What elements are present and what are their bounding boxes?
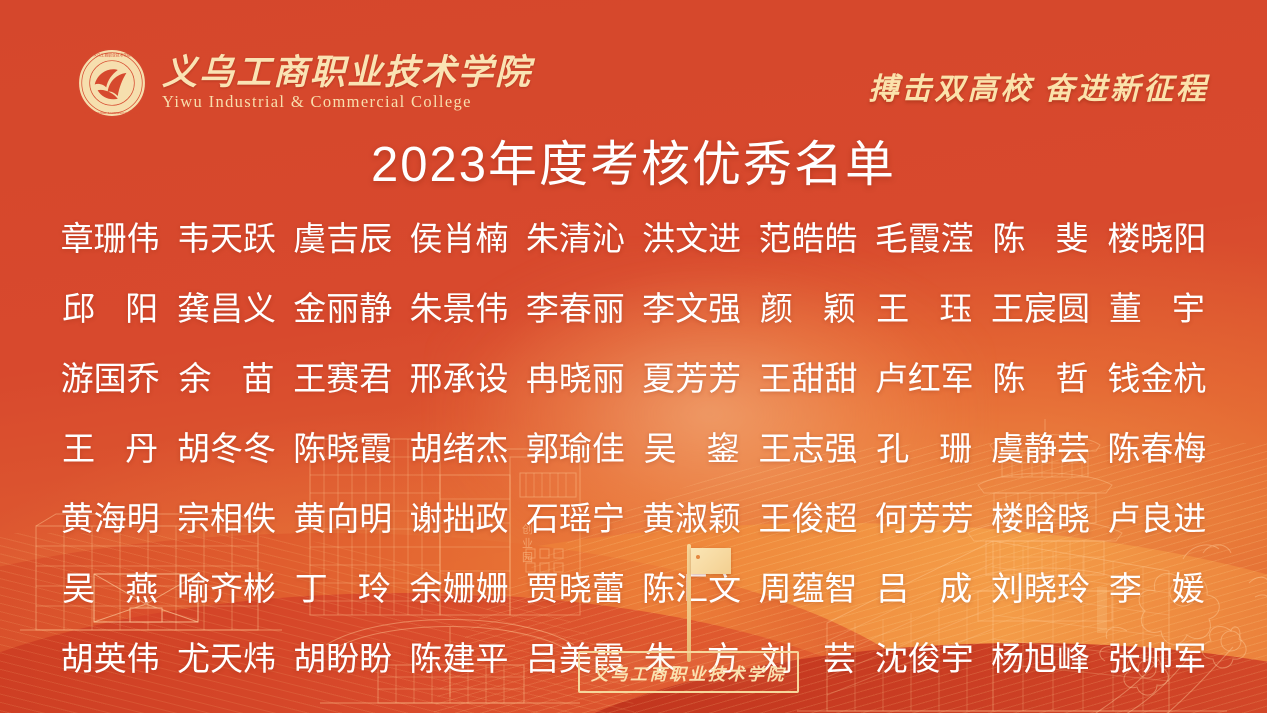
page-title: 2023年度考核优秀名单 <box>0 137 1267 193</box>
honoree-name: 毛霞滢 <box>866 213 982 265</box>
poster-slogan: 搏击双高校 奋进新征程 <box>869 64 1210 108</box>
honoree-name: 章珊伟 <box>52 213 168 265</box>
honoree-name: 杨旭峰 <box>982 633 1098 685</box>
honoree-name: 陈春梅 <box>1099 423 1215 475</box>
honoree-name: 余苗 <box>168 353 284 405</box>
honoree-name: 王甜甜 <box>750 353 866 405</box>
honoree-name: 胡盼盼 <box>285 633 401 685</box>
honoree-name: 吴燕 <box>52 563 168 615</box>
honoree-name: 洪文进 <box>634 213 750 265</box>
honoree-name: 丁玲 <box>285 563 401 615</box>
honoree-name: 李媛 <box>1099 563 1215 615</box>
honoree-name: 张帅军 <box>1099 633 1215 685</box>
honoree-name-grid: 章珊伟韦天跃虞吉辰侯肖楠朱清沁洪文进范皓皓毛霞滢陈斐楼晓阳邱阳龚昌义金丽静朱景伟… <box>52 213 1215 685</box>
honoree-name: 黄淑颖 <box>634 493 750 545</box>
honoree-name: 王俊超 <box>750 493 866 545</box>
honoree-name: 夏芳芳 <box>634 353 750 405</box>
honoree-name: 楼晗晓 <box>982 493 1098 545</box>
honoree-name: 韦天跃 <box>168 213 284 265</box>
honoree-name: 尤天炜 <box>168 633 284 685</box>
honoree-name: 虞吉辰 <box>285 213 401 265</box>
honoree-name: 余姗姗 <box>401 563 517 615</box>
honoree-name: 周蕴智 <box>750 563 866 615</box>
honoree-name: 金丽静 <box>285 283 401 335</box>
honoree-name: 董宇 <box>1099 283 1215 335</box>
honoree-name: 卢良进 <box>1099 493 1215 545</box>
honoree-name: 王珏 <box>866 283 982 335</box>
honoree-name: 邢承设 <box>401 353 517 405</box>
honoree-name: 石瑶宁 <box>517 493 633 545</box>
honoree-name: 吕成 <box>866 563 982 615</box>
honoree-name: 李文强 <box>634 283 750 335</box>
honoree-name: 冉晓丽 <box>517 353 633 405</box>
honoree-name: 黄向明 <box>285 493 401 545</box>
honoree-name: 陈建平 <box>401 633 517 685</box>
honoree-name: 李春丽 <box>517 283 633 335</box>
honoree-name: 王赛君 <box>285 353 401 405</box>
honoree-name: 刘晓玲 <box>982 563 1098 615</box>
poster-canvas: 创 业 园 <box>0 0 1267 713</box>
honoree-name: 邱阳 <box>52 283 168 335</box>
honoree-name: 范皓皓 <box>750 213 866 265</box>
honoree-name: 何芳芳 <box>866 493 982 545</box>
honoree-name: 郭瑜佳 <box>517 423 633 475</box>
honoree-name: 钱金杭 <box>1099 353 1215 405</box>
honoree-name: 游国乔 <box>52 353 168 405</box>
honoree-name: 颜颖 <box>750 283 866 335</box>
honoree-name: 侯肖楠 <box>401 213 517 265</box>
college-name-cn: 义乌工商职业技术学院 <box>162 55 532 92</box>
honoree-name: 卢红军 <box>866 353 982 405</box>
svg-text:YIWU INDUSTRIAL & COMMERCIAL C: YIWU INDUSTRIAL & COMMERCIAL COLLEGE <box>84 112 141 115</box>
honoree-name: 陈晓霞 <box>285 423 401 475</box>
honoree-name: 朱景伟 <box>401 283 517 335</box>
honoree-name: 喻齐彬 <box>168 563 284 615</box>
honoree-name: 陈哲 <box>982 353 1098 405</box>
gold-flag-icon <box>691 548 731 574</box>
honoree-name: 虞静芸 <box>982 423 1098 475</box>
honoree-name: 谢拙政 <box>401 493 517 545</box>
college-brand-text: 义乌工商职业技术学院 Yiwu Industrial & Commercial … <box>162 55 532 111</box>
honoree-name: 宗相佚 <box>168 493 284 545</box>
honoree-name: 胡冬冬 <box>168 423 284 475</box>
honoree-name: 胡绪杰 <box>401 423 517 475</box>
college-plaque-text: 义乌工商职业技术学院 <box>591 660 786 685</box>
honoree-name: 王丹 <box>52 423 168 475</box>
college-plaque: 义乌工商职业技术学院 <box>578 651 799 693</box>
college-crest-icon: 义乌工商职业技术学院 YIWU INDUSTRIAL & COMMERCIAL … <box>76 47 148 119</box>
honoree-name: 王宸圆 <box>982 283 1098 335</box>
college-name-en: Yiwu Industrial & Commercial College <box>162 93 532 111</box>
college-brand: 义乌工商职业技术学院 YIWU INDUSTRIAL & COMMERCIAL … <box>76 47 532 119</box>
svg-text:义乌工商职业技术学院: 义乌工商职业技术学院 <box>93 52 131 57</box>
honoree-name: 朱清沁 <box>517 213 633 265</box>
honoree-name: 贾晓蕾 <box>517 563 633 615</box>
honoree-name: 沈俊宇 <box>866 633 982 685</box>
honoree-name: 孔珊 <box>866 423 982 475</box>
honoree-name: 陈斐 <box>982 213 1098 265</box>
honoree-name: 吴鋆 <box>634 423 750 475</box>
honoree-name: 胡英伟 <box>52 633 168 685</box>
honoree-name: 楼晓阳 <box>1099 213 1215 265</box>
poster-header: 义乌工商职业技术学院 YIWU INDUSTRIAL & COMMERCIAL … <box>0 0 1267 130</box>
honoree-name: 龚昌义 <box>168 283 284 335</box>
honoree-name: 王志强 <box>750 423 866 475</box>
honoree-name: 黄海明 <box>52 493 168 545</box>
